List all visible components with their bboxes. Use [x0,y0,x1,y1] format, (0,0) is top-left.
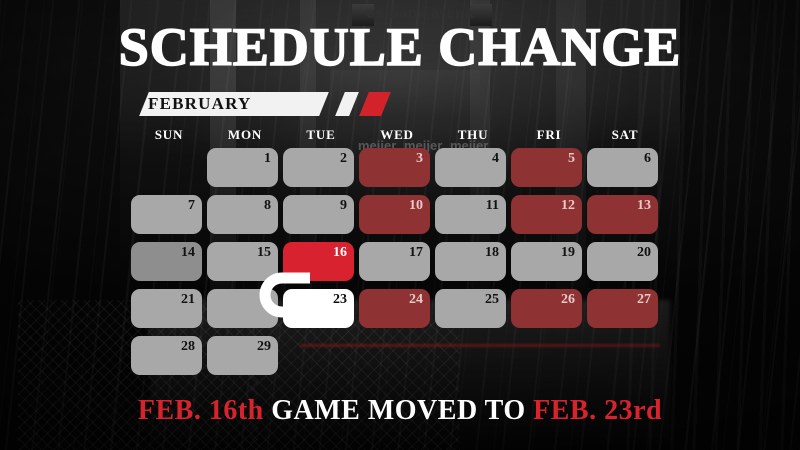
calendar-weekday-header-row: SUN MON TUE WED THU FRI SAT [131,126,663,144]
calendar-day-number: 11 [486,198,499,214]
calendar-day-cell[interactable]: 3 [359,148,430,187]
calendar-day-cell[interactable]: 1 [207,148,278,187]
weekday-header-sun: SUN [131,126,207,144]
calendar-day-number: 26 [561,292,575,308]
calendar-day-number: 3 [416,151,423,167]
calendar-day-cell[interactable]: 21 [131,289,202,328]
calendar-day-grid: 1234567891011121314151617181920212324252… [131,148,663,375]
banner-slash-white [335,92,359,116]
calendar-day-cell[interactable]: 4 [435,148,506,187]
schedule-change-graphic: us bank arena meijer meijer meijer SCHED… [0,0,800,450]
footer-middle-text: GAME MOVED TO [264,395,533,426]
calendar-cell-empty [131,148,202,187]
calendar-day-number: 29 [257,339,271,355]
calendar-day-number: 7 [188,198,195,214]
weekday-header-sat: SAT [587,126,663,144]
calendar-cell-empty [359,336,430,375]
calendar-day-cell[interactable]: 8 [207,195,278,234]
footer-message: FEB. 16th GAME MOVED TO FEB. 23rd [0,395,800,427]
calendar-day-cell[interactable]: 19 [511,242,582,281]
calendar-cell-empty [587,336,658,375]
calendar-cell-empty [511,336,582,375]
calendar-day-cell[interactable]: 16 [283,242,354,281]
calendar-day-number: 19 [561,245,575,261]
calendar-day-number: 15 [257,245,271,261]
calendar-day-cell[interactable]: 28 [131,336,202,375]
calendar-day-number: 10 [409,198,423,214]
calendar-day-cell[interactable]: 9 [283,195,354,234]
weekday-header-thu: THU [435,126,511,144]
calendar-day-cell[interactable]: 11 [435,195,506,234]
graphic-content: SCHEDULE CHANGE FEBRUARY SUN MON TUE WED… [0,0,800,450]
calendar-cell-empty [435,336,506,375]
calendar-day-cell[interactable]: 6 [587,148,658,187]
calendar-day-number: 2 [340,151,347,167]
weekday-header-wed: WED [359,126,435,144]
calendar-day-cell[interactable]: 5 [511,148,582,187]
calendar-day-cell[interactable]: 25 [435,289,506,328]
calendar-day-cell[interactable]: 20 [587,242,658,281]
calendar-day-cell[interactable]: 12 [511,195,582,234]
calendar-day-cell[interactable]: 17 [359,242,430,281]
calendar-day-number: 12 [561,198,575,214]
calendar-day-number: 16 [333,245,347,261]
calendar-day-cell[interactable]: 7 [131,195,202,234]
weekday-header-tue: TUE [283,126,359,144]
calendar-day-cell[interactable]: 18 [435,242,506,281]
calendar-day-cell[interactable]: 15 [207,242,278,281]
footer-to-date: FEB. 23rd [533,395,662,426]
calendar: SUN MON TUE WED THU FRI SAT 123456789101… [131,126,663,375]
calendar-day-cell[interactable]: 23 [283,289,354,328]
calendar-day-cell[interactable]: 29 [207,336,278,375]
calendar-day-number: 25 [485,292,499,308]
calendar-cell-empty [283,336,354,375]
weekday-header-mon: MON [207,126,283,144]
calendar-day-number: 23 [333,292,347,308]
calendar-day-number: 5 [568,151,575,167]
calendar-day-number: 27 [637,292,651,308]
month-label: FEBRUARY [148,92,320,116]
calendar-day-cell[interactable] [207,289,278,328]
calendar-day-cell[interactable]: 2 [283,148,354,187]
calendar-day-cell[interactable]: 14 [131,242,202,281]
weekday-header-fri: FRI [511,126,587,144]
footer-from-date: FEB. 16th [138,395,264,426]
calendar-day-number: 20 [637,245,651,261]
calendar-day-number: 13 [637,198,651,214]
calendar-day-number: 4 [492,151,499,167]
calendar-day-number: 14 [181,245,195,261]
calendar-day-number: 21 [181,292,195,308]
calendar-day-number: 24 [409,292,423,308]
calendar-day-cell[interactable]: 27 [587,289,658,328]
page-title: SCHEDULE CHANGE [0,18,800,76]
calendar-day-number: 17 [409,245,423,261]
calendar-day-cell[interactable]: 10 [359,195,430,234]
calendar-day-cell[interactable]: 13 [587,195,658,234]
calendar-day-number: 6 [644,151,651,167]
calendar-day-cell[interactable]: 26 [511,289,582,328]
calendar-day-cell[interactable]: 24 [359,289,430,328]
calendar-day-number: 8 [264,198,271,214]
calendar-day-number: 1 [264,151,271,167]
calendar-day-number: 18 [485,245,499,261]
calendar-day-number: 9 [340,198,347,214]
banner-slash-red [359,92,391,116]
calendar-day-number: 28 [181,339,195,355]
